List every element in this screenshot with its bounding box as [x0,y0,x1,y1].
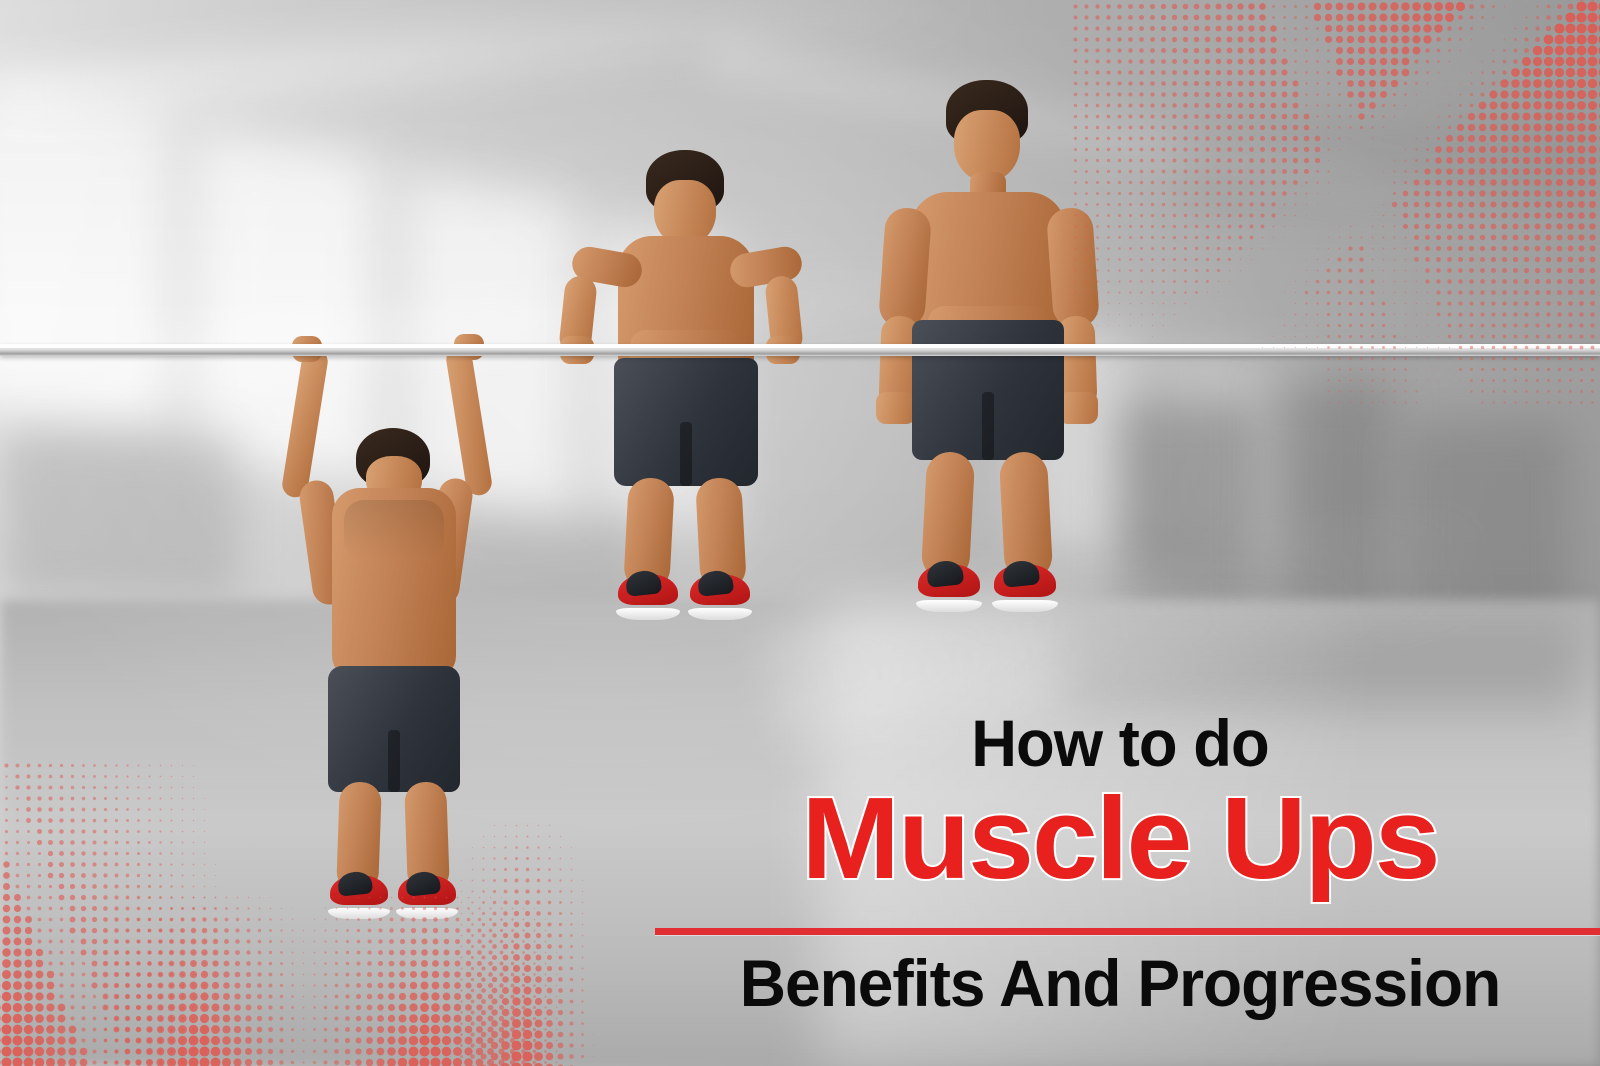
athlete-1-dead-hang [270,330,520,910]
athlete-1-right-arm [444,345,493,497]
athlete-1-left-arm [280,347,329,499]
athlete-3-shorts-split [982,392,994,460]
athlete-2-transition [570,150,830,650]
athlete-3-lockout [860,80,1130,670]
title-kicker: How to do [659,710,1581,776]
athlete-3-right-hand [1058,392,1098,424]
athlete-2-shorts-split [680,422,692,486]
title-block: How to do Muscle Ups Benefits And Progre… [640,700,1600,1030]
athlete-1-left-shoe [330,875,388,919]
athlete-3-left-upper-arm [878,207,932,330]
athlete-3-right-shoe [994,564,1056,612]
athlete-3-right-upper-arm [1046,207,1100,330]
athlete-1-shorts-split [388,730,400,792]
title-divider [655,928,1600,935]
pull-up-bar-highlight [0,345,1600,348]
athlete-3-left-shoe [918,564,980,612]
athlete-1-chest-shading [344,500,444,560]
athlete-1-right-shoe [398,875,456,919]
athlete-3-left-hand [876,392,916,424]
athlete-2-left-shoe [618,574,678,620]
athlete-2-right-shoe [690,574,750,620]
fitness-banner: How to do Muscle Ups Benefits And Progre… [0,0,1600,1066]
title-subtitle: Benefits And Progression [654,946,1585,1022]
title-headline: Muscle Ups [630,780,1600,896]
